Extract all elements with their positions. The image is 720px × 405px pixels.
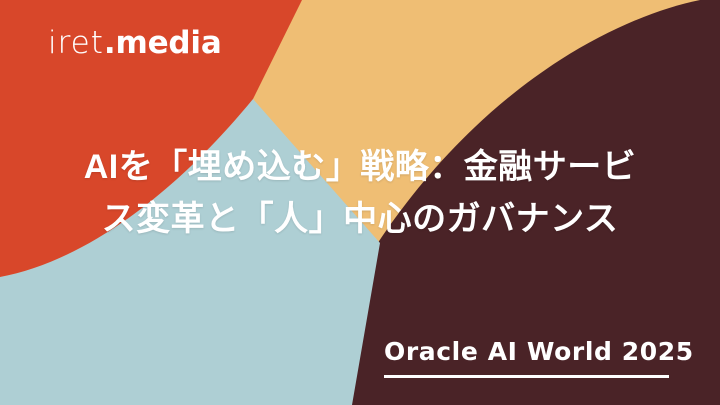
headline-line-2: ス変革と「人」中心のガバナンス (0, 194, 720, 246)
headline: AIを「埋め込む」戦略：金融サービ ス変革と「人」中心のガバナンス (0, 142, 720, 245)
brand-logo-bold: .media (104, 28, 222, 59)
brand-logo: iret.media (48, 28, 222, 59)
event-underline-rule (384, 375, 669, 378)
headline-line-1: AIを「埋め込む」戦略：金融サービ (0, 142, 720, 194)
event-title: Oracle AI World 2025 (384, 338, 684, 366)
slide-canvas: iret.media AIを「埋め込む」戦略：金融サービ ス変革と「人」中心のガ… (0, 0, 720, 405)
brand-logo-thin: iret (48, 28, 104, 59)
event-block: Oracle AI World 2025 (384, 338, 684, 378)
